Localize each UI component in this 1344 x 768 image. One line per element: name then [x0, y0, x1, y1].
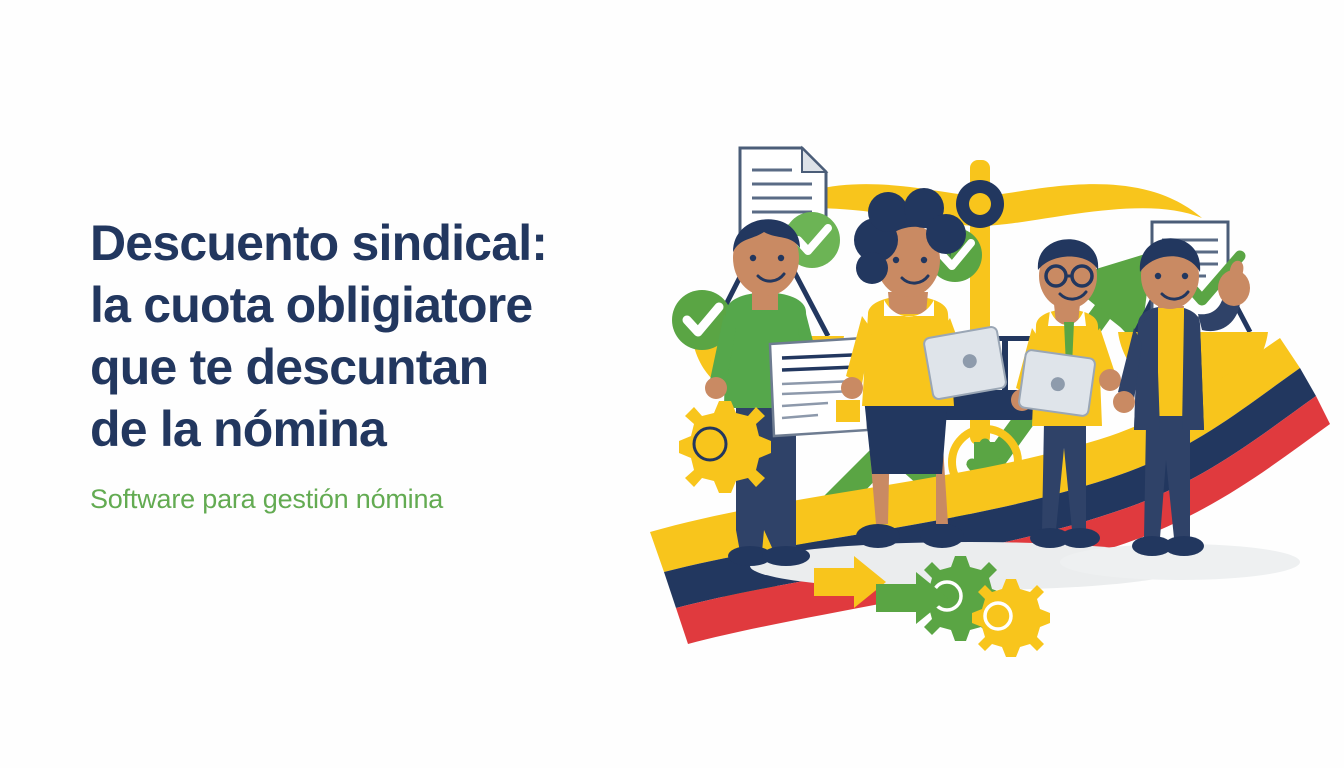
page-title: Descuento sindical: la cuota obligiatore… — [90, 212, 690, 460]
headline-line-3: que te descuntan — [90, 336, 690, 398]
page-subtitle: Software para gestión nómina — [90, 460, 690, 516]
tablet-device-secondary-icon — [1018, 349, 1095, 416]
headline-line-2: la cuota obligiatore — [90, 274, 690, 336]
gear-yellow-left-icon — [679, 401, 771, 493]
hero-banner: Descuento sindical: la cuota obligiatore… — [0, 0, 1344, 768]
headline-line-1: Descuento sindical: — [90, 212, 690, 274]
gear-yellow-right-icon — [972, 579, 1050, 657]
headline-line-4: de la nómina — [90, 398, 690, 460]
tablet-device-icon — [923, 326, 1007, 400]
hero-text-block: Descuento sindical: la cuota obligiatore… — [90, 212, 690, 516]
hero-illustration — [640, 100, 1340, 660]
